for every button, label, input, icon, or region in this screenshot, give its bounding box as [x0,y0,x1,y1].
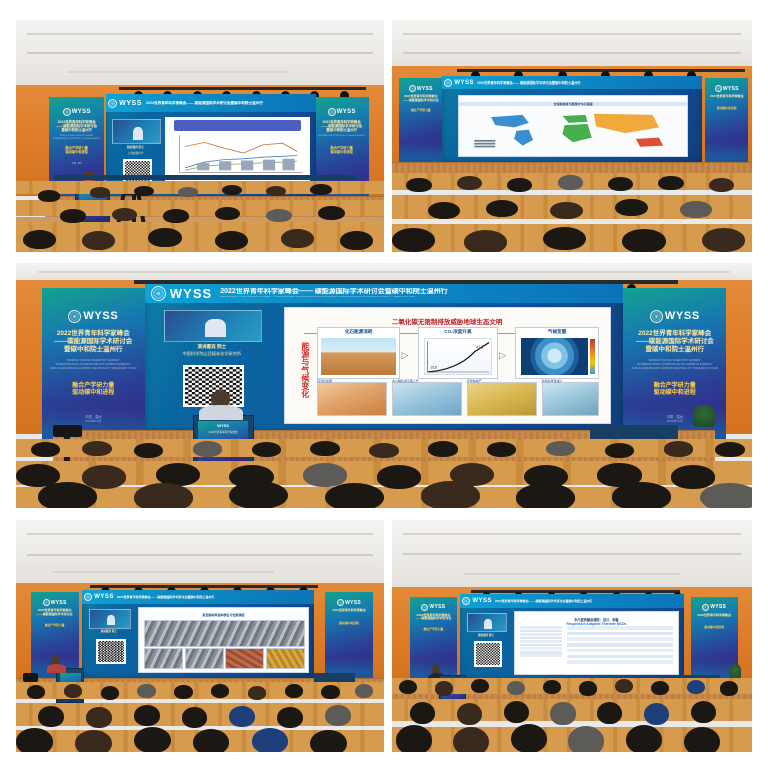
led-header-title: 2022世界青年科学家峰会—— 碳能源国际学术研讨会暨碳中和院士温州行 [117,595,215,599]
banner-foot-1: 中国 · 温州 [72,162,82,165]
speaker-name: 演讲嘉宾 院士 [85,629,134,633]
slide-image-main [144,620,305,647]
wyss-logo-icon [84,593,92,601]
photo-center: WYSS 2022世界青年科学家峰会 ——碳能源国际学术研讨会 暨碳中和院士温州… [16,263,752,508]
wyss-wordmark: WYSS [83,310,118,322]
photo-bottom-left: WYSS 2022世界青年科学家峰会 ——碳能源国际学术研讨会 融合产学研力量 … [16,520,384,752]
wyss-logo: WYSS [63,108,91,116]
wyss-logo: WYSS [328,108,356,116]
led-screen: WYSS 2022世界青年科学家峰会—— 碳能源国际学术研讨会暨碳中和院士温州行… [460,594,683,680]
stage-banner-right: WYSS 2022世界青年科学家峰会 驱动碳中和进程 [705,78,748,164]
wyss-logo: WYSS [702,604,726,611]
thumb-label: 农作物减产 [467,379,482,383]
slide-thumb-desert [317,382,387,416]
wyss-logo: WYSS [409,85,433,92]
wyss-logo-icon [328,108,336,116]
slide-title: 二氧化碳无限制排放威胁地球生态文明 [285,316,610,326]
slide-carbon-diagram: 二氧化碳无限制排放威胁地球生态文明 能源与气候变化 化石能源消耗 ▷ CO₂浓度… [284,307,611,424]
speaker-org: 上海交通大学 [110,151,160,155]
audience-seating [16,173,384,252]
banner-slogan-1: 融合产学研力量 [411,109,431,113]
wyss-logo: WYSS [715,85,739,92]
wyss-logo-icon [650,310,663,323]
svg-text:315: 315 [430,365,437,369]
led-header-title: 2022世界青年科学家峰会—— 碳能源国际学术研讨会暨碳中和院士温州行 [146,101,263,106]
led-screen: WYSS 2022世界青年科学家峰会—— 碳能源国际学术研讨会暨碳中和院士温州行… [82,590,314,678]
wyss-logo: WYSS [43,599,67,606]
wyss-logo-icon [68,310,81,323]
wyss-logo-icon [337,599,344,606]
speaker-thumbnail [89,609,130,629]
audience-seating [16,682,384,752]
slide-thumb-1 [144,648,183,669]
speaker-thumbnail [112,119,160,144]
banner-slogan-1: 融合产学研力量 [45,624,65,628]
wyss-wordmark: WYSS [72,109,91,115]
photo-bottom-right: WYSS 2022世界青年科学家峰会 ——碳能源国际学术研讨会 融合产学研力量 … [392,520,752,752]
svg-text:415: 415 [475,344,483,349]
wyss-logo-icon [715,85,722,92]
wyss-wordmark: WYSS [454,80,474,86]
panel-label: 化石能源消耗 [318,329,399,335]
banner-cn-1: 2022世界青年科学家峰会 [638,330,711,338]
speaker-thumbnail [467,613,507,632]
wyss-wordmark: WYSS [337,109,356,115]
slide-thumb-3 [225,648,264,669]
banner-slogan-2: 驱动碳中和进程 [66,150,88,154]
slide-title-bar [174,120,301,131]
led-header-subtitle: 2022 WORLD YOUNG SCIENTIST SUMMIT · INTE… [220,296,448,299]
wyss-logo-icon [63,108,71,116]
slide-thumb-flood [392,382,462,416]
banner-slogan-2: 驱动碳中和进程 [704,626,724,630]
banner-cn-3: 暨碳中和院士温州行 [61,128,92,132]
led-screen: WYSS 2022世界青年科学家峰会—— 碳能源国际学术研讨会暨碳中和院士温州行… [442,76,701,162]
lighting-truss [119,87,366,90]
banner-slogan-2: 驱动碳中和进程 [717,107,737,111]
wyss-wordmark: WYSS [345,600,361,606]
wyss-logo-icon [702,604,709,611]
panel-label: CO₂浓度升高 [419,329,497,335]
banner-slogan-1: 融合产学研力量 [424,628,444,632]
banner-cn-2: ——碳能源国际学术研讨会 [403,99,439,103]
photo-top-left: WYSS 2022世界青年科学家峰会 ——碳能源国际学术研讨会 暨碳中和院士温州… [16,20,384,252]
wyss-wordmark: WYSS [51,600,67,606]
wyss-logo: WYSS [68,310,118,323]
wyss-wordmark: WYSS [472,598,492,604]
wyss-logo-icon [462,597,470,605]
speaker-thumbnail [164,310,262,341]
photo-top-right: WYSS 2022世界青年科学家峰会 ——碳能源国际学术研讨会 融合产学研力量 … [392,20,752,252]
chart-plot-area [179,135,302,174]
banner-en-3: AND ACADEMICIAN CARBON NEUTRALITY WENZHO… [631,367,718,371]
slide-panel-fossil: 化石能源消耗 [317,327,400,379]
press-camera [23,673,38,682]
plant [693,405,715,427]
thumb-label: 生物多样性减少 [542,379,563,383]
led-header-title: 2022世界青年科学家峰会—— 碳能源国际学术研讨会暨碳中和院士温州行 [495,599,593,603]
photo-collage: WYSS 2022世界青年科学家峰会 ——碳能源国际学术研讨会 暨碳中和院士温州… [0,0,768,768]
wyss-wordmark: WYSS [94,594,114,600]
banner-cn-2: ——碳能源国际学术研讨会 [54,338,132,346]
slide-thumb-2 [185,648,224,669]
wyss-wordmark: WYSS [665,310,700,322]
speaker-name: 演讲嘉宾 院士 [463,633,510,637]
banner-cn-3: 暨碳中和院士温州行 [645,346,704,354]
stage-banner-left: WYSS 2022世界青年科学家峰会 ——碳能源国际学术研讨会 融合产学研力量 [399,78,442,164]
slide-panel-co2: CO₂浓度升高 415 315 [418,327,498,379]
arrow-right-icon: ▷ [402,350,409,361]
speaker-name: 演讲嘉宾 院士 [110,145,160,149]
wyss-logo-icon [444,79,452,87]
banner-cn-1: 2022世界青年科学家峰会 [697,614,731,618]
wyss-wordmark: WYSS [710,604,726,610]
wyss-logo: WYSS [337,599,361,606]
banner-en-2: INTERNATIONAL SYMPOSIUM ON CARBON ENERGY [53,138,100,140]
led-header-title: 2022世界青年科学家峰会—— 碳能源国际学术研讨会暨碳中和院士温州行 [220,288,448,295]
stage-banner-right: WYSS 2022世界青年科学家峰会 驱动碳中和进程 [325,592,373,681]
audience-seating [16,439,752,508]
banner-cn-3: 暨碳中和院士温州行 [326,128,357,132]
qr-code[interactable] [96,639,126,664]
banner-cn-2: ——碳能源国际学术研讨会 [415,617,451,621]
wyss-wordmark: WYSS [417,86,433,92]
wyss-logo-icon [409,85,416,92]
panel-label: 气候变暖 [516,329,597,335]
banner-slogan-2: 驱动碳中和进程 [654,390,696,398]
speaker-name: 演讲嘉宾 院士 [154,344,269,350]
banner-cn-1: 2022世界青年科学家峰会 [57,330,130,338]
slide-title: 全球碳排放与能源分布示意图 [459,102,687,106]
slide-title: 新型碳材料结构表征与性能调控 [139,613,308,617]
banner-cn-2: ——碳能源国际学术研讨会 [636,338,714,346]
wyss-logo: WYSS [650,310,700,323]
banner-cn-1: 2022世界青年科学家峰会 [332,609,366,613]
wyss-logo-icon [43,599,50,606]
led-header-title: 2022世界青年科学家峰会—— 碳能源国际学术研讨会暨碳中和院士温州行 [477,80,581,85]
speaker-org: 中国科学院山西煤炭化学研究所 [150,351,274,357]
arrow-right-icon: ▷ [499,350,506,361]
slide-data-table: 多尺度热输运调控：设计、制备 Responsive Adaptive Therm… [514,611,679,675]
wyss-wordmark: WYSS [723,86,739,92]
banner-en-2: INTERNATIONAL SYMPOSIUM ON CARBON ENERGY [318,135,365,137]
slide-micrograph-grid: 新型碳材料结构表征与性能调控 [138,607,309,672]
banner-cn-1: 2022世界青年科学家峰会 [710,95,744,99]
banner-slogan-2: 驱动碳中和进程 [331,150,353,154]
slide-world-map: 全球碳排放与能源分布示意图 [458,95,688,157]
audience-seating [392,173,752,252]
audience-seating [392,678,752,752]
wyss-logo-icon [151,286,166,301]
thumb-label: 荒漠化加剧 [317,379,332,383]
podium-cn: 2022世界青年科学家峰会 [197,431,249,434]
thumb-label: 冰川融化海平面上升 [392,379,419,383]
banner-en-3: AND ACADEMICIAN CARBON NEUTRALITY WENZHO… [50,367,137,371]
slide-thumb-wheat [467,382,537,416]
slide-vertical-title: 能源与气候变化 [289,324,309,416]
banner-slogan-2: 驱动碳中和进程 [339,622,359,626]
banner-cn-2: ——碳能源国际学术研讨会 [37,613,73,617]
wyss-wordmark: WYSS [119,100,142,107]
wyss-logo-icon [421,604,428,611]
slide-panel-warming: 气候变暖 [515,327,598,379]
banner-cn-3: 暨碳中和院士温州行 [64,346,123,354]
wyss-logo-icon [108,99,117,108]
slide-thumb-4 [266,648,305,669]
qr-code[interactable] [474,641,503,666]
wyss-wordmark: WYSS [170,286,212,301]
wyss-wordmark: WYSS [429,604,445,610]
slide-thumb-birds [542,382,599,416]
wyss-logo: WYSS [421,604,445,611]
banner-slogan-2: 驱动碳中和进程 [72,390,114,398]
podium-wordmark: WYSS [201,423,246,428]
